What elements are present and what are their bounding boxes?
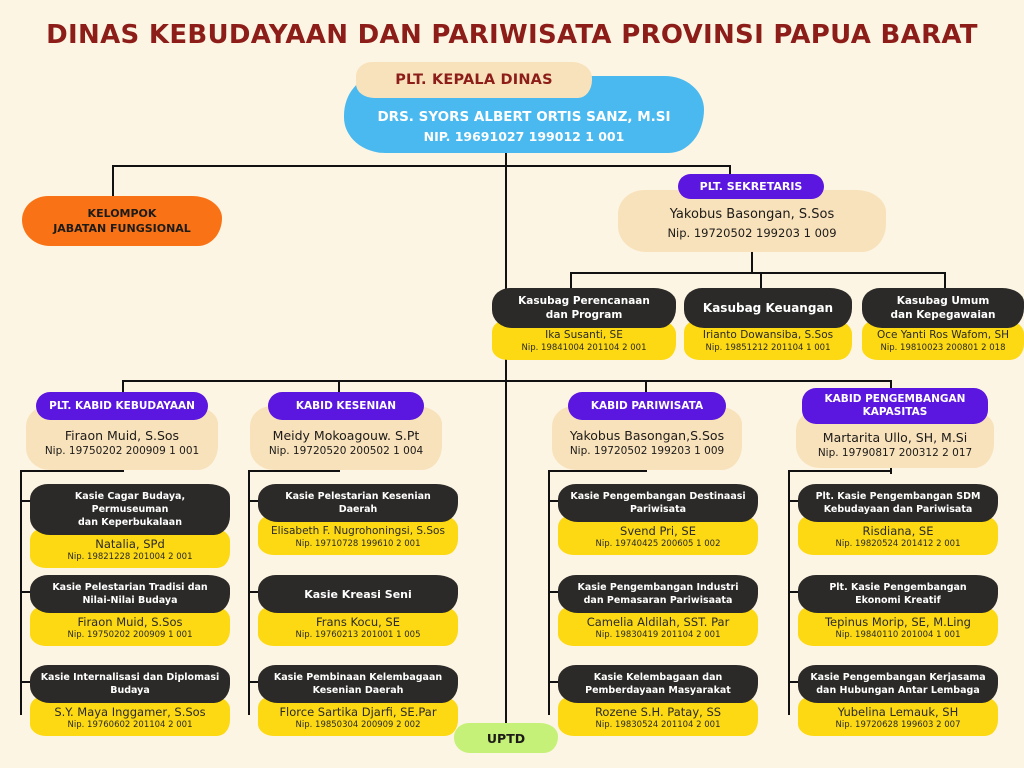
kepala-dinas-position: PLT. KEPALA DINAS [356,62,592,98]
connector-kabid3-to-spine [548,470,647,472]
kasie-nip: Nip. 19820524 201412 2 001 [803,538,993,550]
kasie-card-industri-pemasaran[interactable]: Kasie Pengembangan Industri dan Pemasara… [558,575,758,646]
kabid-position-line1: PLT. KABID KEBUDAYAAN [49,400,195,413]
connector-central-spine [505,165,507,723]
sekretaris-details: Yakobus Basongan, S.Sos Nip. 19720502 19… [618,205,886,243]
kasie-title-line2: Daerah [339,503,378,516]
kabid-card-kapasitas[interactable]: KABID PENGEMBANGAN KAPASITAS Martarita U… [796,388,994,472]
kabid-nip: Nip. 19720520 200502 1 004 [250,444,442,458]
kasie-nip: Nip. 19830419 201104 2 001 [563,629,753,641]
kabid-position-line1: KABID PENGEMBANGAN [825,393,966,406]
kasie-card-kerjasama-antar-lembaga[interactable]: Kasie Pengembangan Kerjasama dan Hubunga… [798,665,998,736]
kasie-name: S.Y. Maya Inggamer, S.Sos [35,705,225,719]
kasubag-title-line1: Kasubag Umum [897,294,990,308]
kasie-nip: Nip. 19760602 201104 2 001 [35,719,225,731]
kasie-name: Yubelina Lemauk, SH [803,705,993,719]
kasie-title-line2: Pemberdayaan Masyarakat [585,684,731,697]
uptd-card[interactable]: UPTD [454,723,558,753]
kabid-nip: Nip. 19790817 200312 2 017 [796,446,994,460]
kasie-title-line1: Kasie Cagar Budaya, Permuseuman [39,490,221,516]
kasie-title: Kasie Kelembagaan dan Pemberdayaan Masya… [558,665,758,703]
kasie-name: Natalia, SPd [35,537,225,551]
kabid-nip: Nip. 19720502 199203 1 009 [552,444,742,458]
kasie-nip: Nip. 19740425 200605 1 002 [563,538,753,550]
kabid-position: KABID KESENIAN [268,392,424,420]
kasie-title: Kasie Pembinaan Kelembagaan Kesenian Dae… [258,665,458,703]
kasie-title-line1: Kasie Pembinaan Kelembagaan [274,671,442,684]
kabid-card-kesenian[interactable]: KABID KESENIAN Meidy Mokoagouw. S.Pt Nip… [250,392,442,470]
kasie-title-line2: dan Keperbukalaan [78,516,182,529]
kasie-title-line1: Plt. Kasie Pengembangan [829,581,966,594]
fungsional-line1: KELOMPOK [88,206,157,221]
kasie-title-line1: Kasie Kelembagaan dan [594,671,723,684]
kasie-title: Kasie Pengembangan Industri dan Pemasara… [558,575,758,613]
fungsional-line2: JABATAN FUNGSIONAL [53,221,191,236]
kasie-title: Kasie Pengembangan Kerjasama dan Hubunga… [798,665,998,703]
sekretaris-nip: Nip. 19720502 199203 1 009 [618,224,886,243]
kasie-title-line1: Kasie Kreasi Seni [304,588,412,601]
connector-kabid2-to-spine [248,470,340,472]
kabid-details: Meidy Mokoagouw. S.Pt Nip. 19720520 2005… [250,428,442,458]
kasie-title: Plt. Kasie Pengembangan SDM Kebudayaan d… [798,484,998,522]
kabid-position-line2: KAPASITAS [863,406,928,419]
org-chart-canvas: DINAS KEBUDAYAAN DAN PARIWISATA PROVINSI… [0,0,1024,768]
kasie-card-cagar-budaya[interactable]: Kasie Cagar Budaya, Permuseuman dan Kepe… [30,484,230,568]
kabid-card-pariwisata[interactable]: KABID PARIWISATA Yakobus Basongan,S.Sos … [552,392,742,470]
kasie-title-line2: Kesenian Daerah [313,684,404,697]
kasie-name: Firaon Muid, S.Sos [35,615,225,629]
kelompok-jabatan-fungsional-card[interactable]: KELOMPOK JABATAN FUNGSIONAL [22,196,222,246]
connector-kabid-bus [122,380,890,382]
kasie-card-kreasi-seni[interactable]: Kasie Kreasi Seni Frans Kocu, SE Nip. 19… [258,575,458,646]
kasubag-name: Oce Yanti Ros Wafom, SH [868,329,1018,342]
kabid-card-kebudayaan[interactable]: PLT. KABID KEBUDAYAAN Firaon Muid, S.Sos… [26,392,218,470]
kasubag-title-line2: dan Program [546,308,623,322]
kasie-title-line1: Kasie Pengembangan Kerjasama [810,671,985,684]
kepala-dinas-nip: NIP. 19691027 199012 1 001 [344,127,704,146]
kasie-name: Frans Kocu, SE [263,615,453,629]
kasie-name: Risdiana, SE [803,524,993,538]
kabid-details: Firaon Muid, S.Sos Nip. 19750202 200909 … [26,428,218,458]
kasie-card-internalisasi[interactable]: Kasie Internalisasi dan Diplomasi Budaya… [30,665,230,736]
kasie-card-ekonomi-kreatif[interactable]: Plt. Kasie Pengembangan Ekonomi Kreatif … [798,575,998,646]
kasie-card-kelembagaan-pemberdayaan[interactable]: Kasie Kelembagaan dan Pemberdayaan Masya… [558,665,758,736]
kasie-name: Elisabeth F. Nugrohoningsi, S.Sos [263,524,453,538]
kasie-name: Florce Sartika Djarfi, SE.Par [263,705,453,719]
kasubag-title: Kasubag Perencanaan dan Program [492,288,676,328]
kasie-title-line2: Ekonomi Kreatif [855,594,941,607]
connector-sekretaris-down [751,252,753,272]
kasie-nip: Nip. 19850304 200909 2 002 [263,719,453,731]
kasubag-title-line1: Kasubag Perencanaan [518,294,650,308]
kasie-title-line1: Kasie Pelestarian Tradisi dan [52,581,207,594]
kasie-nip: Nip. 19760213 201001 1 005 [263,629,453,641]
kasie-nip: Nip. 19830524 201104 2 001 [563,719,753,731]
kasie-name: Camelia Aldilah, SST. Par [563,615,753,629]
kasie-name: Svend Pri, SE [563,524,753,538]
kasie-name: Tepinus Morip, SE, M.Ling [803,615,993,629]
kabid-name: Martarita Ullo, SH, M.Si [796,430,994,446]
kasubag-card-keuangan[interactable]: Kasubag Keuangan Irianto Dowansiba, S.So… [684,288,852,360]
kasie-nip: Nip. 19840110 201004 1 001 [803,629,993,641]
sekretaris-name: Yakobus Basongan, S.Sos [618,205,886,224]
kasie-card-pelestarian-kesenian[interactable]: Kasie Pelestarian Kesenian Daerah Elisab… [258,484,458,555]
kabid-details: Martarita Ullo, SH, M.Si Nip. 19790817 2… [796,430,994,460]
kabid-name: Yakobus Basongan,S.Sos [552,428,742,444]
kasie-title-line1: Kasie Pengembangan Industri [578,581,739,594]
kasie-card-pembinaan-kelembagaan[interactable]: Kasie Pembinaan Kelembagaan Kesenian Dae… [258,665,458,736]
connector-kasubag-bus [570,272,946,274]
kasie-card-pelestarian-tradisi[interactable]: Kasie Pelestarian Tradisi dan Nilai-Nila… [30,575,230,646]
kasie-title-line2: dan Hubungan Antar Lembaga [816,684,979,697]
kabid-nip: Nip. 19750202 200909 1 001 [26,444,218,458]
sekretaris-position: PLT. SEKRETARIS [678,174,824,199]
kasie-title: Kasie Internalisasi dan Diplomasi Budaya [30,665,230,703]
kasie-title: Kasie Cagar Budaya, Permuseuman dan Kepe… [30,484,230,535]
kasubag-name: Ika Susanti, SE [498,329,670,342]
kabid-name: Meidy Mokoagouw. S.Pt [250,428,442,444]
kepala-dinas-details: DRS. SYORS ALBERT ORTIS SANZ, M.SI NIP. … [344,108,704,146]
uptd-label: UPTD [487,731,525,746]
kasie-title-line1: Kasie Pengembangan Destinaasi [570,490,745,503]
kasie-nip: Nip. 19710728 199610 2 001 [263,538,453,550]
kasubag-nip: Nip. 19841004 201104 2 001 [498,342,670,354]
kasie-title-line1: Kasie Internalisasi dan Diplomasi [41,671,220,684]
kabid-position-line1: KABID PARIWISATA [591,400,703,413]
page-title: DINAS KEBUDAYAAN DAN PARIWISATA PROVINSI… [0,20,1024,50]
kasie-card-pengembangan-sdm[interactable]: Plt. Kasie Pengembangan SDM Kebudayaan d… [798,484,998,555]
kasie-title: Kasie Kreasi Seni [258,575,458,613]
kasubag-title-line2: dan Kepegawaian [891,308,996,322]
kasubag-title: Kasubag Keuangan [684,288,852,328]
kasie-name: Rozene S.H. Patay, SS [563,705,753,719]
kabid-position: PLT. KABID KEBUDAYAAN [36,392,208,420]
connector-main-bus [112,165,730,167]
kasie-title-line2: dan Pemasaran Pariwisaata [584,594,733,607]
kabid-name: Firaon Muid, S.Sos [26,428,218,444]
kasie-title-line2: Nilai-Nilai Budaya [82,594,177,607]
kasubag-nip: Nip. 19810023 200801 2 018 [868,342,1018,354]
kasie-title-line2: Budaya [110,684,150,697]
kasie-title-line2: Kebudayaan dan Pariwisata [824,503,973,516]
connector-to-fungsional [112,165,114,200]
connector-kabid1-to-spine [20,470,124,472]
kasie-nip: Nip. 19750202 200909 1 001 [35,629,225,641]
kasie-title: Kasie Pengembangan Destinaasi Pariwisata [558,484,758,522]
kasie-title-line1: Kasie Pelestarian Kesenian [285,490,431,503]
kasie-title-line1: Plt. Kasie Pengembangan SDM [816,490,981,503]
kasie-nip: Nip. 19821228 201004 2 001 [35,551,225,563]
kabid-position-line1: KABID KESENIAN [296,400,396,413]
kabid-position: KABID PARIWISATA [568,392,726,420]
kabid-details: Yakobus Basongan,S.Sos Nip. 19720502 199… [552,428,742,458]
kabid-position: KABID PENGEMBANGAN KAPASITAS [802,388,988,424]
kasubag-name: Irianto Dowansiba, S.Sos [690,329,846,342]
kasubag-title: Kasubag Umum dan Kepegawaian [862,288,1024,328]
kasie-title-line2: Pariwisata [630,503,686,516]
kasubag-card-umum[interactable]: Kasubag Umum dan Kepegawaian Oce Yanti R… [862,288,1024,360]
kasubag-nip: Nip. 19851212 201104 1 001 [690,342,846,354]
kasubag-title-line1: Kasubag Keuangan [703,301,833,315]
kepala-dinas-name: DRS. SYORS ALBERT ORTIS SANZ, M.SI [344,108,704,127]
kasie-nip: Nip. 19720628 199603 2 007 [803,719,993,731]
kasubag-card-perencanaan[interactable]: Kasubag Perencanaan dan Program Ika Susa… [492,288,676,360]
kasie-title: Kasie Pelestarian Kesenian Daerah [258,484,458,522]
kasie-title: Plt. Kasie Pengembangan Ekonomi Kreatif [798,575,998,613]
kasie-title: Kasie Pelestarian Tradisi dan Nilai-Nila… [30,575,230,613]
kasie-card-destinasi-pariwisata[interactable]: Kasie Pengembangan Destinaasi Pariwisata… [558,484,758,555]
